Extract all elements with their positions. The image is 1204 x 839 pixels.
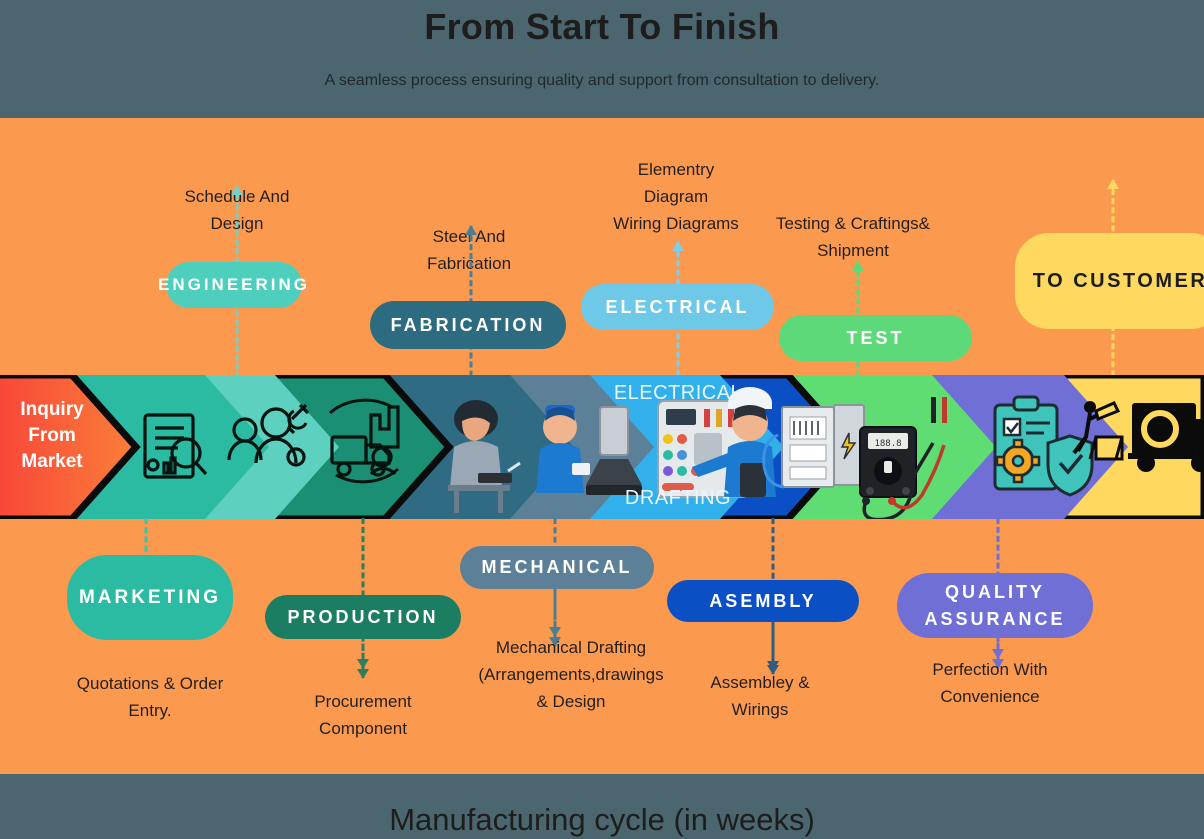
chevron-band-svg: 188.8 <box>0 375 1204 519</box>
page-title: From Start To Finish <box>0 6 1204 48</box>
process-chevron-band: 188.8 <box>0 375 1204 519</box>
pill-mechanical[interactable]: MECHANICAL <box>460 546 654 589</box>
arrow-head-up-icon <box>852 261 864 271</box>
pill-engineering-label: ENGINEERING <box>158 275 310 295</box>
pill-electrical-label: ELECTRICAL <box>606 297 750 318</box>
caption-quality: Perfection With Convenience <box>893 656 1087 710</box>
pill-electrical[interactable]: ELECTRICAL <box>581 284 774 330</box>
infographic-root: From Start To Finish A seamless process … <box>0 0 1204 839</box>
pill-quality-assurance[interactable]: QUALITY ASSURANCE <box>897 573 1093 638</box>
arrow-head-up-icon <box>465 225 477 235</box>
pill-test[interactable]: TEST <box>779 315 972 361</box>
arrow-head-up-icon <box>231 185 243 195</box>
footer-title: Manufacturing cycle (in weeks) <box>0 802 1204 838</box>
pill-to-customer-label: TO CUSTOMER <box>1033 270 1204 293</box>
pill-mechanical-label: MECHANICAL <box>482 557 633 578</box>
pill-quality-line-1: QUALITY <box>945 579 1045 606</box>
pill-fabrication[interactable]: FABRICATION <box>370 301 566 349</box>
caption-asembly: Assembley & Wirings <box>676 669 844 723</box>
svg-text:188.8: 188.8 <box>874 439 901 449</box>
pill-asembly[interactable]: ASEMBLY <box>667 580 859 622</box>
connector-asembly-lower <box>766 622 780 674</box>
caption-production: Procurement Component <box>277 688 449 742</box>
caption-test: Testing & Craftings& Shipment <box>757 210 949 264</box>
pill-asembly-label: ASEMBLY <box>709 591 816 612</box>
pill-marketing-label: MARKETING <box>79 587 221 609</box>
footer-banner: Manufacturing cycle (in weeks) <box>0 774 1204 839</box>
pill-production[interactable]: PRODUCTION <box>265 595 461 639</box>
header-banner: From Start To Finish A seamless process … <box>0 0 1204 118</box>
pill-production-label: PRODUCTION <box>288 607 439 628</box>
pill-test-label: TEST <box>846 328 904 349</box>
pill-engineering[interactable]: ENGINEERING <box>166 262 302 308</box>
caption-electrical: Elementry Diagram Wiring Diagrams <box>586 156 766 237</box>
arrow-head-up-icon <box>1107 179 1119 189</box>
arrow-head-up-icon <box>672 241 684 251</box>
pill-quality-line-2: ASSURANCE <box>924 606 1065 633</box>
pill-fabrication-label: FABRICATION <box>391 315 546 336</box>
page-subtitle: A seamless process ensuring quality and … <box>0 72 1204 90</box>
caption-mechanical: Mechanical Drafting (Arrangements,drawin… <box>455 634 687 715</box>
control-panel-engineer-icon <box>658 387 776 497</box>
arrow-head-down-icon <box>357 659 369 669</box>
arrow-head-down-icon <box>357 669 369 679</box>
diagram-stage: Schedule And Design Steel And Fabricatio… <box>0 118 1204 774</box>
pill-marketing[interactable]: MARKETING <box>67 555 233 640</box>
caption-marketing: Quotations & Order Entry. <box>58 670 242 724</box>
pill-to-customer[interactable]: TO CUSTOMER <box>1015 233 1204 329</box>
